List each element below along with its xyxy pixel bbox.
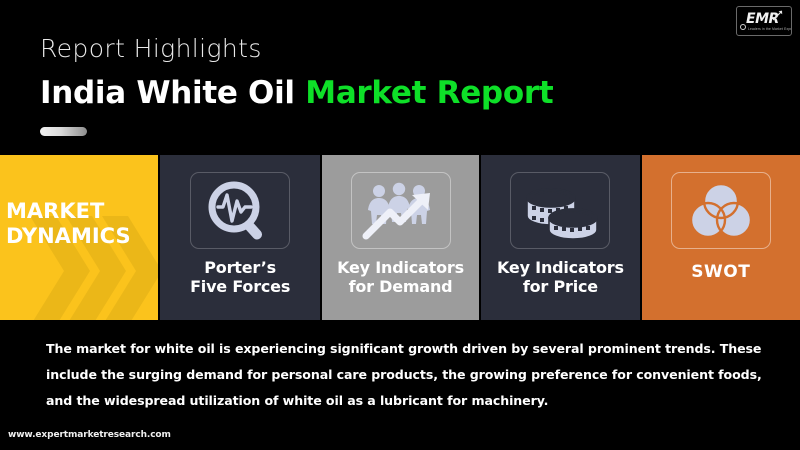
growth-arrow-icon (772, 9, 784, 21)
logo-dot-icon (740, 24, 746, 30)
eyebrow-label: Report Highlights (40, 36, 262, 61)
panel-market-dynamics[interactable]: MARKET DYNAMICS (0, 155, 158, 320)
icon-frame (671, 172, 771, 249)
price-line-1: Key Indicators (497, 259, 624, 278)
demand-line-1: Key Indicators (337, 259, 464, 278)
market-dynamics-line-2: DYNAMICS (6, 224, 158, 249)
emr-logo-tagline: Leaders in the Market Expertise (748, 27, 792, 31)
page-title-plain: India White Oil (40, 75, 305, 111)
panel-label-key-indicators-price: Key Indicators for Price (497, 259, 624, 296)
porters-line-1: Porter’s (190, 259, 290, 278)
panel-swot[interactable]: SWOT (642, 155, 800, 320)
panel-label-market-dynamics: MARKET DYNAMICS (0, 199, 158, 249)
panel-key-indicators-price[interactable]: Key Indicators for Price (481, 155, 639, 320)
body-paragraph: The market for white oil is experiencing… (46, 336, 762, 413)
report-highlights-slide: EMR Leaders in the Market Expertise Repo… (0, 0, 800, 450)
icon-frame (351, 172, 451, 249)
panel-label-porters-five-forces: Porter’s Five Forces (190, 259, 290, 296)
demand-line-2: for Demand (337, 278, 464, 297)
page-title-accent: Market Report (305, 75, 553, 111)
panel-key-indicators-demand[interactable]: Key Indicators for Demand (322, 155, 479, 320)
icon-frame (510, 172, 610, 249)
page-title: India White Oil Market Report (40, 78, 553, 109)
venn-three-circles-icon (689, 182, 753, 240)
panel-porters-five-forces[interactable]: Porter’s Five Forces (160, 155, 319, 320)
price-line-2: for Price (497, 278, 624, 297)
market-dynamics-line-1: MARKET (6, 199, 158, 224)
panel-label-key-indicators-demand: Key Indicators for Demand (337, 259, 464, 296)
people-growth-arrow-icon (362, 182, 440, 240)
porters-line-2: Five Forces (190, 278, 290, 297)
panel-label-swot: SWOT (691, 263, 750, 283)
title-underline-pill (40, 127, 87, 136)
icon-frame (190, 172, 290, 249)
magnifier-pulse-icon (204, 181, 276, 241)
highlight-panel-band: MARKET DYNAMICS Porter’s Five Forces (0, 155, 800, 320)
coin-stacks-icon (521, 182, 599, 240)
emr-logo[interactable]: EMR Leaders in the Market Expertise (736, 6, 792, 36)
footer-url[interactable]: www.expertmarketresearch.com (8, 430, 171, 440)
